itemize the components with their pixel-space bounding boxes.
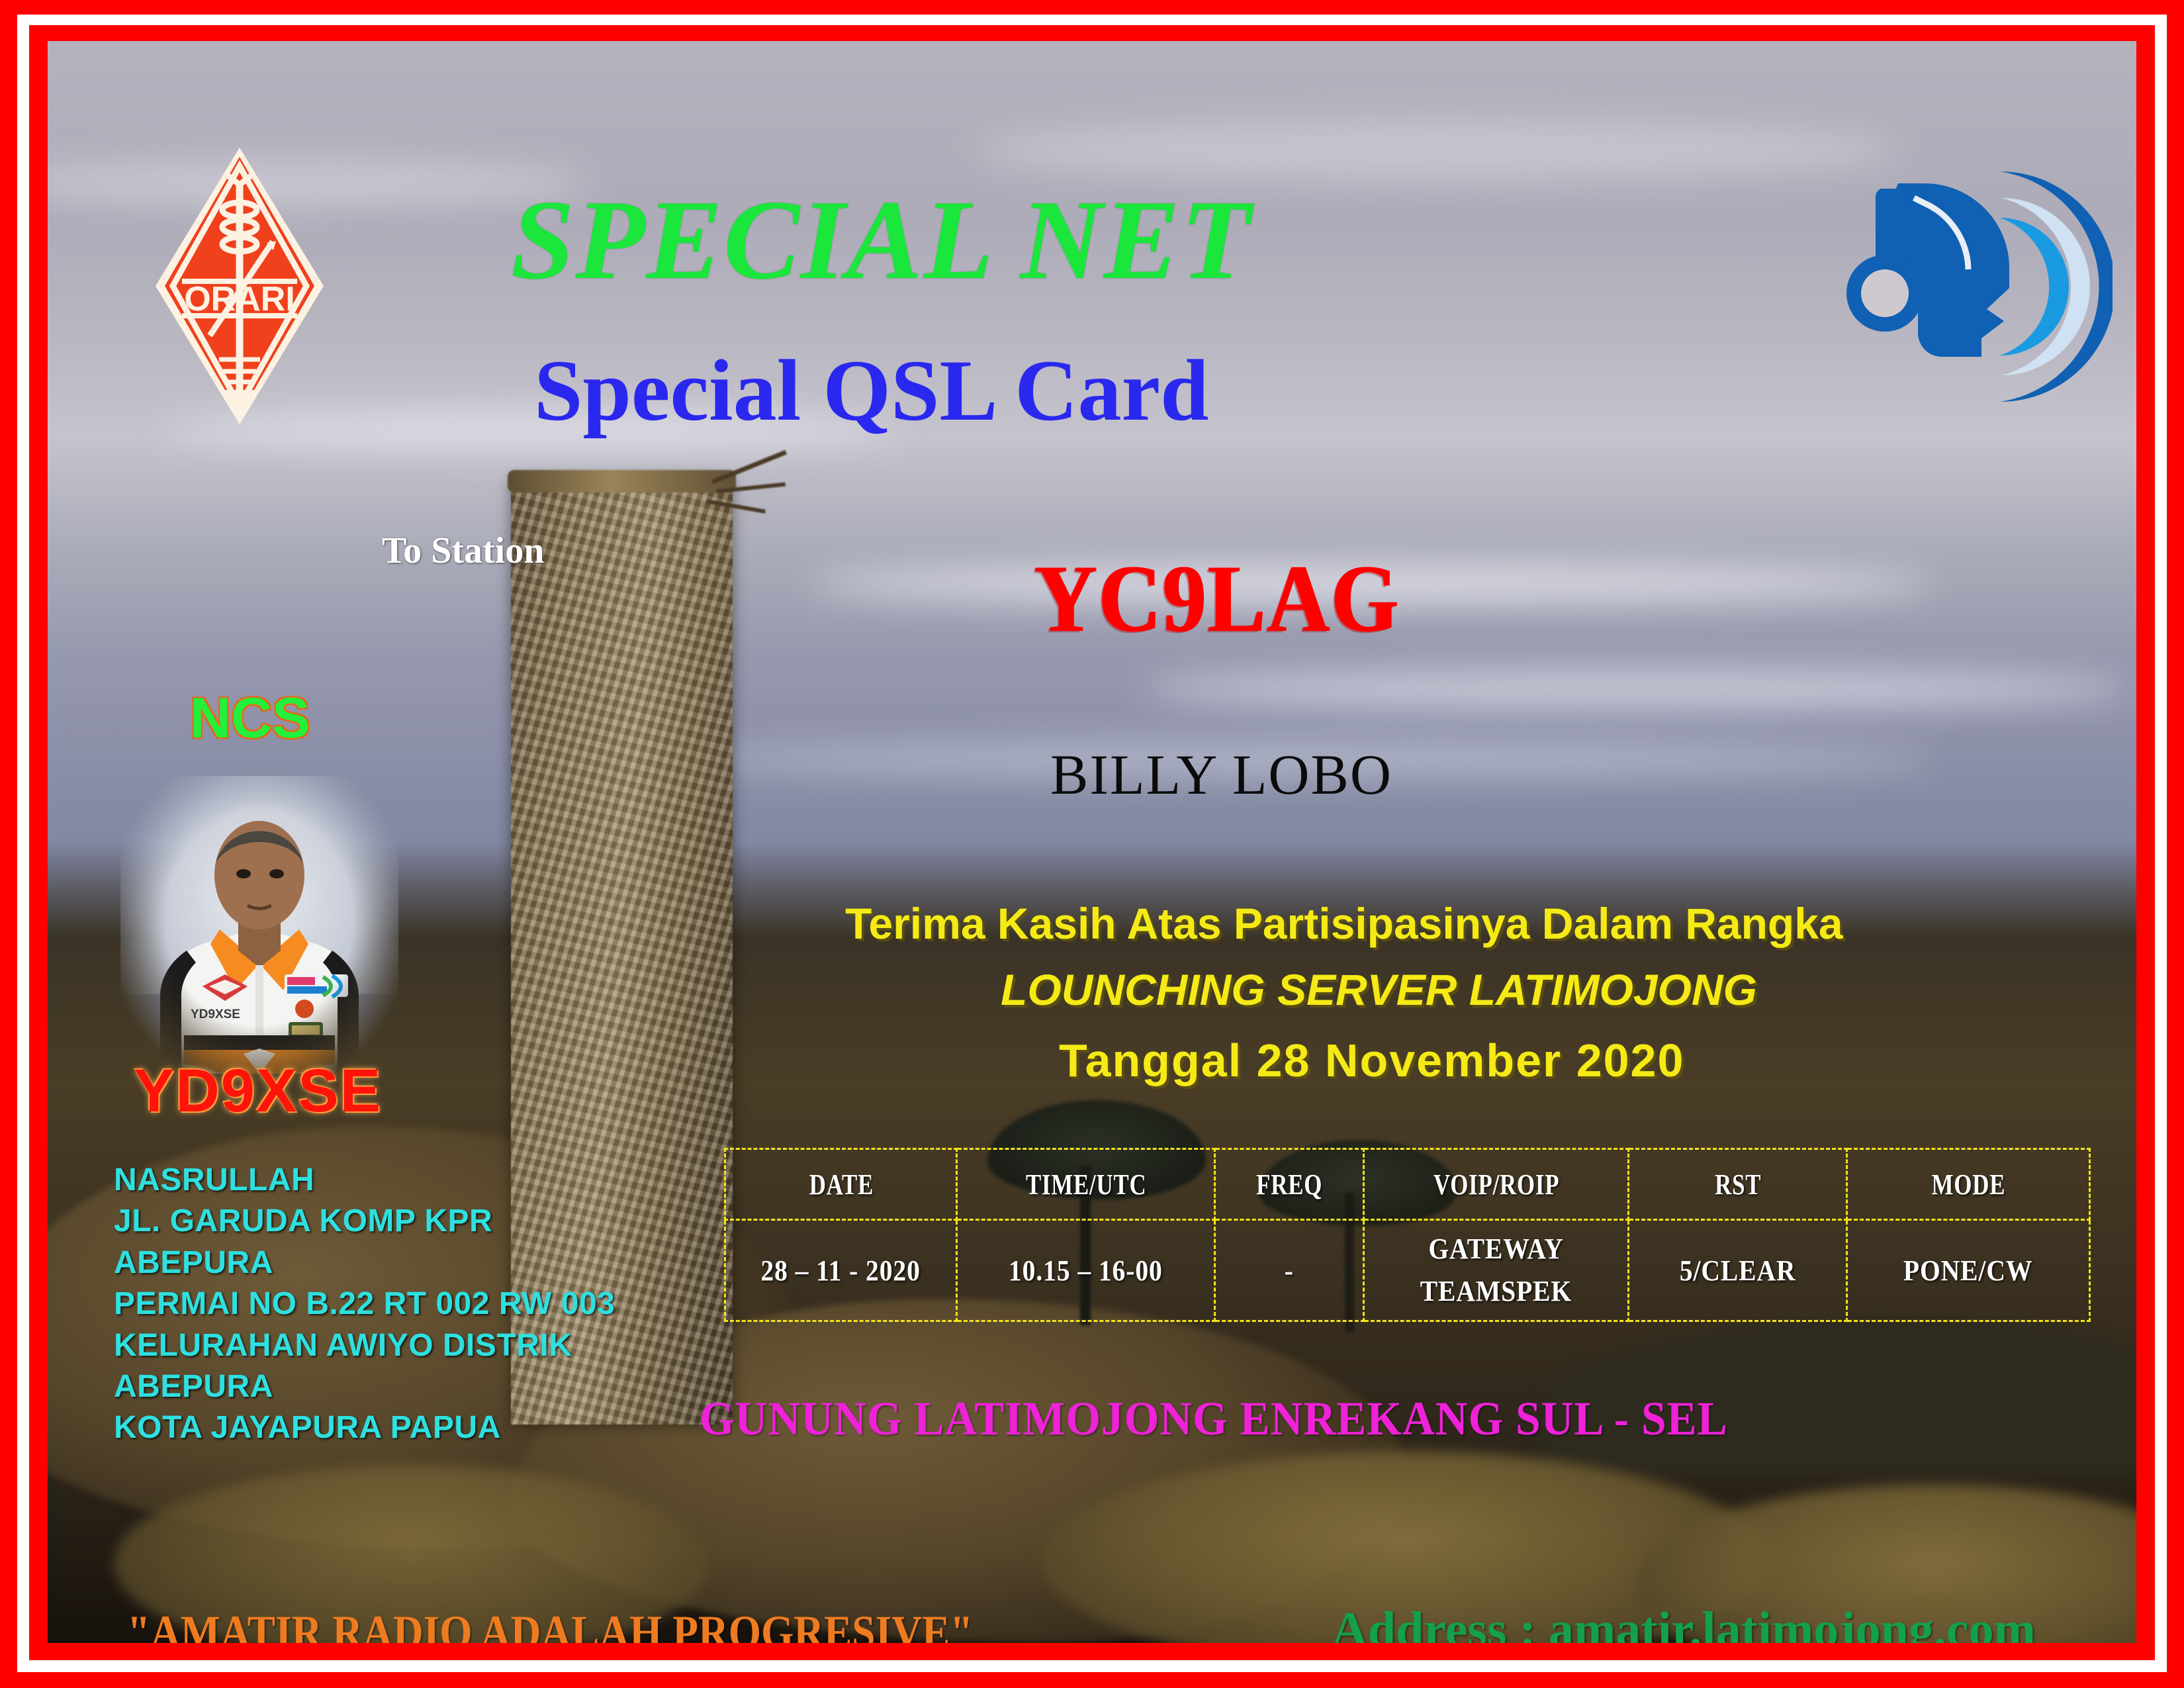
cloud-streak bbox=[1140, 670, 2132, 708]
orari-logo-text: ORARI bbox=[184, 280, 295, 318]
address-line: ABEPURA bbox=[114, 1243, 657, 1284]
station-callsign: YC9LAG bbox=[1034, 551, 1399, 647]
card-photo-area: ORARI SPECIAL NE bbox=[48, 41, 2136, 1643]
page-title: SPECIAL NET bbox=[511, 183, 1252, 297]
cloud-streak bbox=[974, 120, 1901, 180]
address-line: PERMAI NO B.22 RT 002 RW 003 bbox=[114, 1284, 657, 1325]
address-line: KELURAHAN AWIYO DISTRIK bbox=[114, 1325, 657, 1366]
ncs-operator-photo: YD9XSE bbox=[120, 776, 398, 1074]
event-date-line: Tanggal 28 November 2020 bbox=[1059, 1037, 1684, 1084]
qsl-card: ORARI SPECIAL NE bbox=[0, 0, 2184, 1688]
location-line: GUNUNG LATIMOJONG ENREKANG SUL - SEL bbox=[700, 1395, 1728, 1442]
ncs-uniform-callsign: YD9XSE bbox=[191, 1008, 240, 1021]
address-line: NASRULLAH bbox=[114, 1160, 657, 1201]
page-subtitle: Special QSL Card bbox=[534, 347, 1209, 434]
column-header-rst: RST bbox=[1641, 1149, 1833, 1220]
motto-text: "AMATIR RADIO ADALAH PROGRESIVE" bbox=[127, 1609, 973, 1643]
pillar-cap bbox=[508, 470, 736, 492]
table-header-row: DATE TIME/UTC FREQ VOIP/ROIP RST MODE bbox=[725, 1149, 2090, 1220]
address-line: KOTA JAYAPURA PAPUA bbox=[114, 1407, 657, 1448]
cell-time: 10.15 – 16-00 bbox=[957, 1220, 1215, 1321]
column-header-time: TIME/UTC bbox=[972, 1149, 1199, 1220]
cell-mode: PONE/CW bbox=[1847, 1220, 2090, 1321]
address-line: JL. GARUDA KOMP KPR bbox=[114, 1201, 657, 1242]
column-header-freq: FREQ bbox=[1224, 1149, 1355, 1220]
address-line: ABEPURA bbox=[114, 1366, 657, 1407]
thanks-line-1: Terima Kasih Atas Partisipasinya Dalam R… bbox=[845, 902, 1843, 945]
event-name-line: LOUNCHING SERVER LATIMOJONG bbox=[1001, 968, 1757, 1011]
headset-face-logo bbox=[1835, 157, 2113, 415]
cell-freq: - bbox=[1215, 1220, 1364, 1321]
website-address: Address : amatir.latimojong.com bbox=[1332, 1605, 2036, 1643]
cell-rst: 5/CLEAR bbox=[1629, 1220, 1847, 1321]
column-header-date: DATE bbox=[739, 1149, 943, 1220]
column-header-mode: MODE bbox=[1862, 1149, 2075, 1220]
ncs-role-label: NCS bbox=[190, 690, 310, 747]
orari-logo: ORARI bbox=[150, 144, 329, 428]
cell-voip: GATEWAY TEAMSPEK bbox=[1364, 1220, 1629, 1321]
table-row: 28 – 11 - 2020 10.15 – 16-00 - GATEWAY T… bbox=[725, 1220, 2090, 1321]
column-header-voip: VOIP/ROIP bbox=[1380, 1149, 1613, 1220]
ncs-callsign: YD9XSE bbox=[134, 1060, 382, 1121]
station-address-block: NASRULLAH JL. GARUDA KOMP KPR ABEPURA PE… bbox=[114, 1160, 657, 1449]
operator-name: BILLY LOBO bbox=[1050, 746, 1392, 803]
ncs-photo-fade: YD9XSE bbox=[120, 776, 398, 1074]
to-station-label: To Station bbox=[382, 532, 544, 569]
cell-date: 28 – 11 - 2020 bbox=[725, 1220, 957, 1321]
qso-log-table: DATE TIME/UTC FREQ VOIP/ROIP RST MODE 28… bbox=[724, 1148, 2091, 1322]
